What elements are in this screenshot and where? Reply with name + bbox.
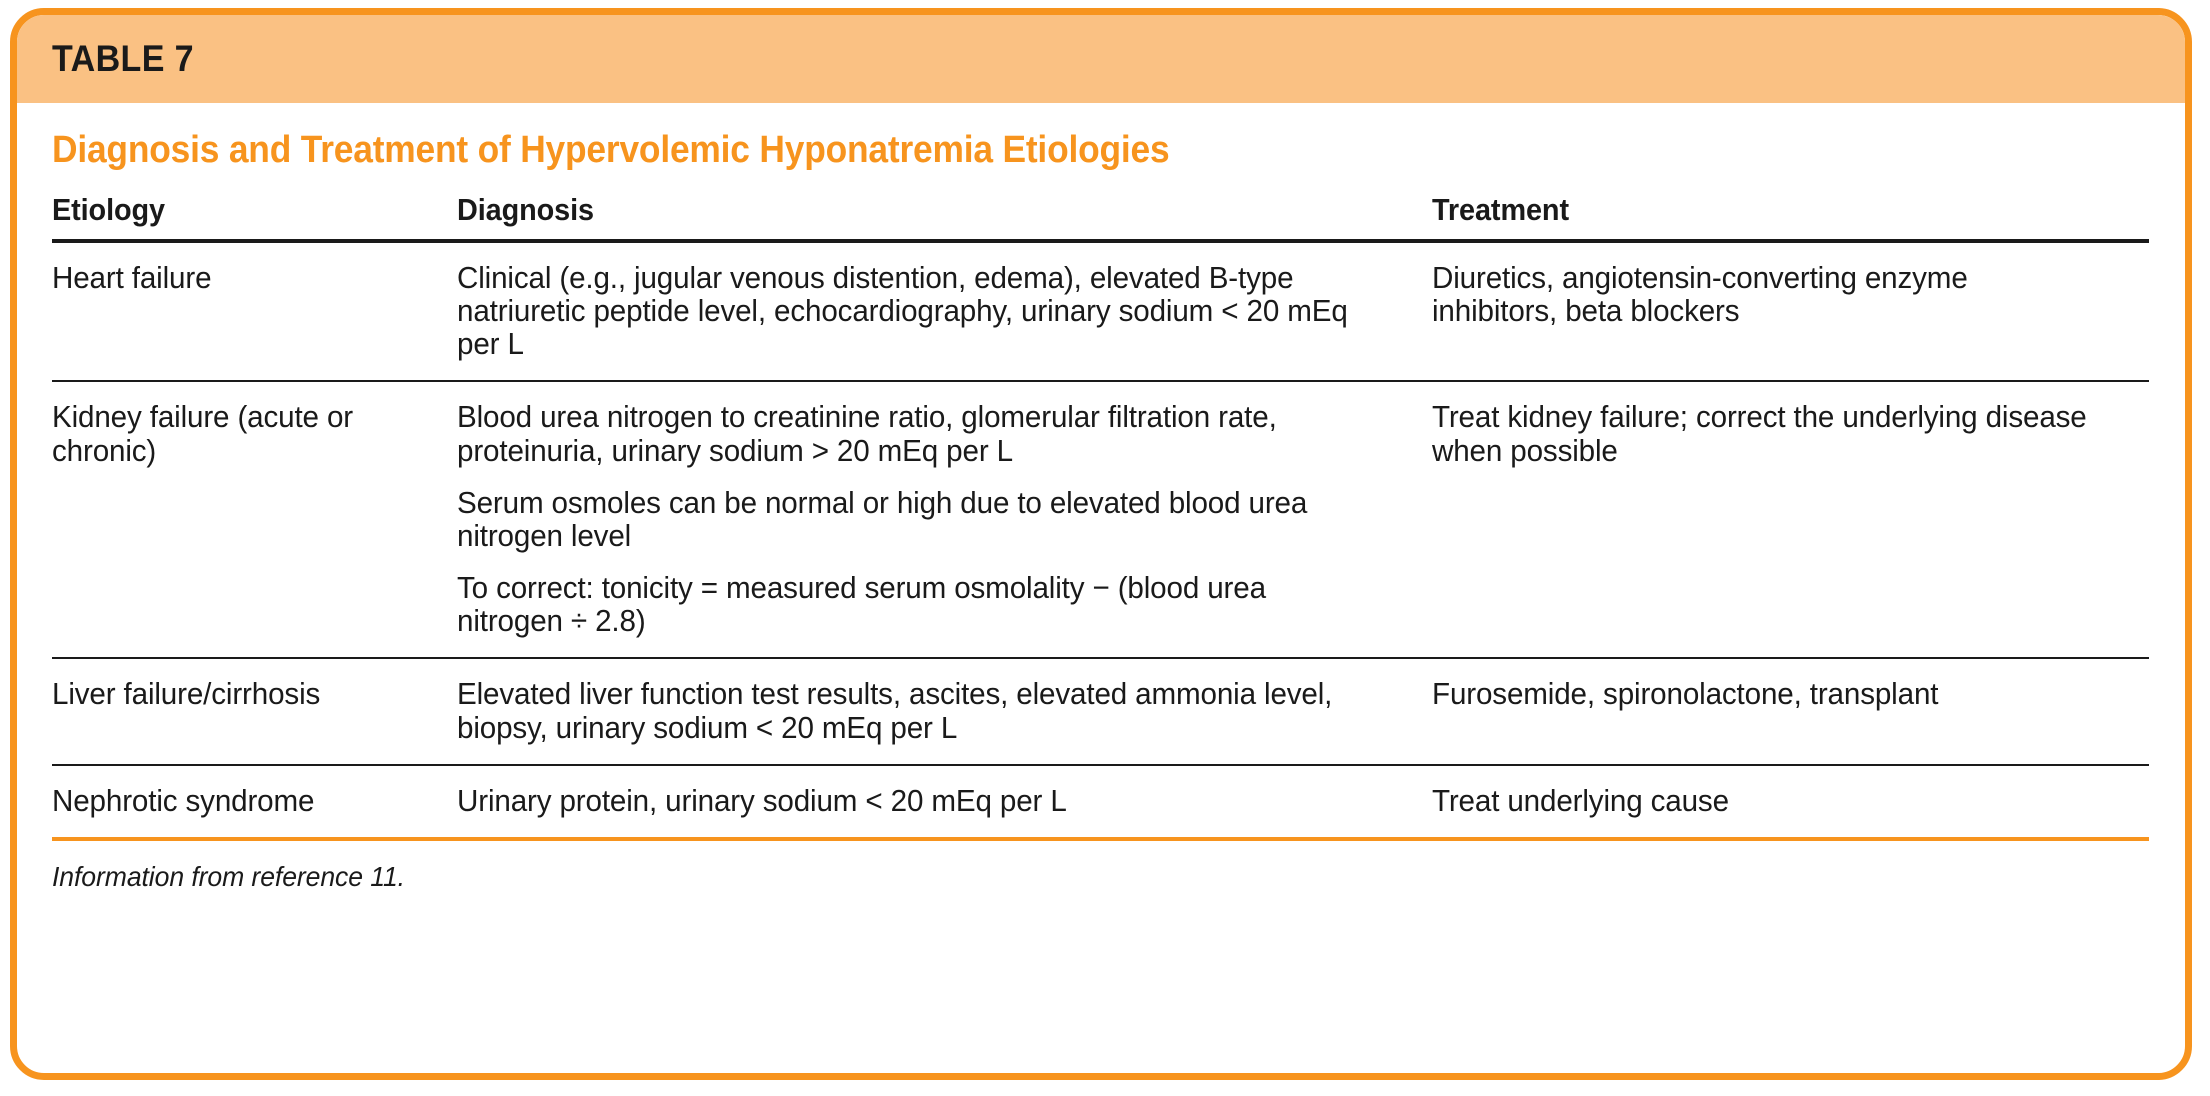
cell-treatment: Treat underlying cause [1432,765,2149,839]
cell-diagnosis: Clinical (e.g., jugular venous distentio… [457,241,1432,381]
cell-text: Treat kidney failure; correct the underl… [1432,400,2092,466]
cell-etiology: Kidney failure (acute or chronic) [52,381,457,658]
table-head: Etiology Diagnosis Treatment [52,178,2149,241]
table-footnote-text: Information from reference 11. [52,861,405,893]
cell-text: Clinical (e.g., jugular venous distentio… [457,261,1363,360]
table-number-label: TABLE 7 [52,38,194,80]
column-header-treatment: Treatment [1432,178,2149,241]
cell-etiology: Heart failure [52,241,457,381]
table-footnote: Information from reference 11. [52,841,2149,893]
cell-diagnosis: Elevated liver function test results, as… [457,658,1432,764]
cell-text: Diuretics, angiotensin-converting enzyme… [1432,261,2092,327]
column-header-diagnosis: Diagnosis [457,178,1432,241]
cell-etiology: Nephrotic syndrome [52,765,457,839]
table-body: Diagnosis and Treatment of Hypervolemic … [17,103,2185,893]
table-title: Diagnosis and Treatment of Hypervolemic … [52,103,2002,178]
cell-text: Blood urea nitrogen to creatinine ratio,… [457,400,1363,466]
table-header-row: Etiology Diagnosis Treatment [52,178,2149,241]
cell-diagnosis: Urinary protein, urinary sodium < 20 mEq… [457,765,1432,839]
table-row: Nephrotic syndrome Urinary protein, urin… [52,765,2149,839]
cell-text: Furosemide, spironolactone, transplant [1432,677,2092,710]
cell-text: To correct: tonicity = measured serum os… [457,571,1363,637]
cell-text: Treat underlying cause [1432,784,2092,817]
cell-treatment: Treat kidney failure; correct the underl… [1432,381,2149,658]
table-row: Kidney failure (acute or chronic) Blood … [52,381,2149,658]
column-header-diagnosis-label: Diagnosis [457,192,594,228]
cell-treatment: Furosemide, spironolactone, transplant [1432,658,2149,764]
cell-text: Elevated liver function test results, as… [457,677,1363,743]
table-row: Heart failure Clinical (e.g., jugular ve… [52,241,2149,381]
column-header-treatment-label: Treatment [1432,192,1569,228]
column-header-etiology-label: Etiology [52,192,165,228]
cell-treatment: Diuretics, angiotensin-converting enzyme… [1432,241,2149,381]
table-card: TABLE 7 Diagnosis and Treatment of Hyper… [10,8,2192,1080]
cell-text: Heart failure [52,261,414,294]
cell-diagnosis: Blood urea nitrogen to creatinine ratio,… [457,381,1432,658]
table-body-rows: Heart failure Clinical (e.g., jugular ve… [52,241,2149,839]
cell-text: Liver failure/cirrhosis [52,677,414,710]
table-row: Liver failure/cirrhosis Elevated liver f… [52,658,2149,764]
data-table: Etiology Diagnosis Treatment Heart failu… [52,178,2149,841]
cell-text: Serum osmoles can be normal or high due … [457,486,1363,552]
column-header-etiology: Etiology [52,178,457,241]
cell-text: Nephrotic syndrome [52,784,414,817]
table-header-band: TABLE 7 [17,15,2185,103]
cell-text: Kidney failure (acute or chronic) [52,400,414,466]
cell-text: Urinary protein, urinary sodium < 20 mEq… [457,784,1363,817]
cell-etiology: Liver failure/cirrhosis [52,658,457,764]
